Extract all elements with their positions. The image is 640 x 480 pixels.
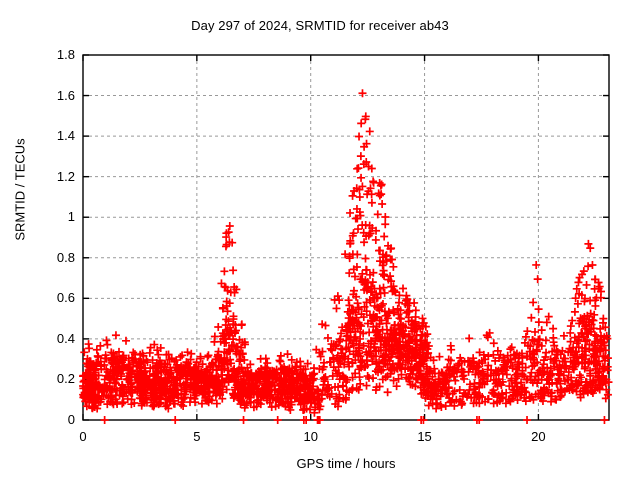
data-point	[567, 322, 575, 330]
data-point	[356, 373, 364, 381]
data-point	[389, 263, 397, 271]
data-point	[549, 325, 557, 333]
data-points	[79, 89, 612, 424]
data-point	[274, 416, 282, 424]
data-point	[589, 317, 597, 325]
data-point	[103, 341, 111, 349]
data-point	[118, 400, 126, 408]
data-point	[357, 119, 365, 127]
data-point	[384, 388, 392, 396]
data-point	[447, 346, 455, 354]
data-point	[372, 236, 380, 244]
data-point	[381, 289, 389, 297]
data-point	[529, 298, 537, 306]
data-point	[535, 318, 543, 326]
data-point	[465, 334, 473, 342]
data-point	[418, 314, 426, 322]
data-point	[362, 255, 370, 263]
data-point	[374, 210, 382, 218]
data-point	[588, 261, 596, 269]
data-point	[490, 339, 498, 347]
data-point	[354, 299, 362, 307]
data-point	[275, 356, 283, 364]
data-point	[584, 240, 592, 248]
data-point	[568, 317, 576, 325]
data-point	[378, 200, 386, 208]
data-point	[584, 262, 592, 270]
data-point	[226, 222, 234, 230]
data-point	[527, 369, 535, 377]
data-point	[380, 233, 388, 241]
data-point	[353, 165, 361, 173]
data-point	[357, 174, 365, 182]
data-point	[381, 213, 389, 221]
data-point	[356, 193, 364, 201]
data-point	[368, 199, 376, 207]
data-point	[257, 355, 265, 363]
data-point	[583, 281, 591, 289]
data-point	[532, 261, 540, 269]
data-point	[586, 244, 594, 252]
data-point	[85, 344, 93, 352]
data-point	[369, 278, 377, 286]
data-point	[523, 416, 531, 424]
data-point	[363, 382, 371, 390]
data-point	[412, 306, 420, 314]
data-point	[527, 314, 535, 322]
data-point	[354, 225, 362, 233]
data-point	[349, 192, 357, 200]
data-point	[508, 343, 516, 351]
chart-figure: Day 297 of 2024, SRMTID for receiver ab4…	[0, 0, 640, 480]
data-point	[204, 351, 212, 359]
data-point	[381, 220, 389, 228]
data-point	[220, 267, 228, 275]
data-point	[101, 416, 109, 424]
data-point	[277, 352, 285, 360]
data-point	[571, 308, 579, 316]
data-point	[357, 152, 365, 160]
data-point	[523, 327, 531, 335]
data-point	[542, 336, 550, 344]
data-point	[534, 275, 542, 283]
data-point	[535, 305, 543, 313]
data-point	[102, 336, 110, 344]
plot-canvas	[0, 0, 640, 480]
data-point	[404, 308, 412, 316]
data-point	[240, 416, 248, 424]
data-point	[433, 399, 441, 407]
data-point	[171, 416, 179, 424]
data-point	[345, 296, 353, 304]
data-point	[355, 133, 363, 141]
data-point	[574, 278, 582, 286]
data-point	[399, 284, 407, 292]
data-point	[395, 299, 403, 307]
data-point	[543, 318, 551, 326]
data-point	[346, 209, 354, 217]
data-point	[531, 328, 539, 336]
data-point	[229, 266, 237, 274]
data-point	[204, 353, 212, 361]
data-point	[335, 296, 343, 304]
data-point	[425, 401, 433, 409]
data-point	[362, 266, 370, 274]
data-point	[122, 337, 130, 345]
data-point	[238, 320, 246, 328]
data-point	[545, 313, 553, 321]
data-point	[549, 334, 557, 342]
data-point	[365, 374, 373, 382]
data-point	[284, 350, 292, 358]
data-point	[600, 416, 608, 424]
data-point	[235, 357, 243, 365]
data-point	[542, 349, 550, 357]
data-point	[591, 302, 599, 310]
data-point	[366, 127, 374, 135]
data-point	[179, 402, 187, 410]
data-point	[112, 331, 120, 339]
data-point	[332, 304, 340, 312]
data-point	[451, 377, 459, 385]
data-point	[187, 350, 195, 358]
data-point	[214, 323, 222, 331]
